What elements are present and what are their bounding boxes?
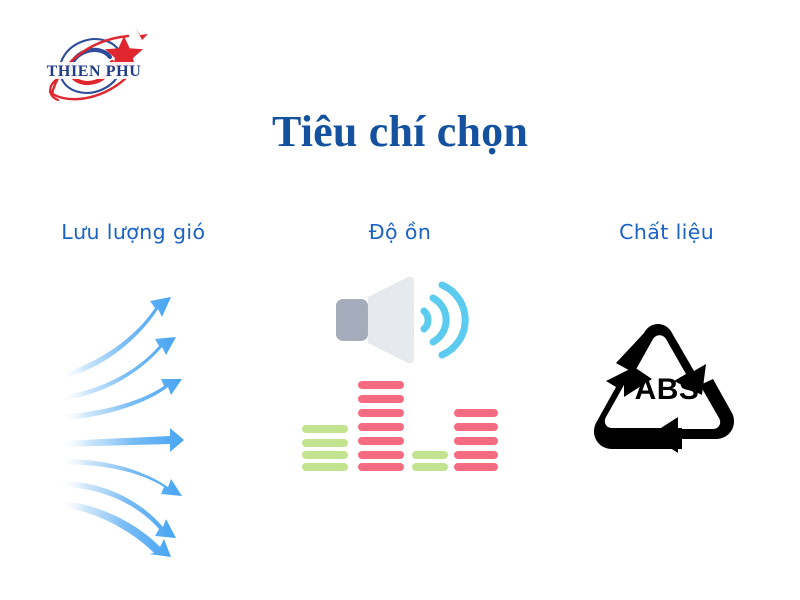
equalizer-column-2 xyxy=(358,381,404,471)
airflow-arrow-7 xyxy=(60,501,171,557)
criterion-label-airflow: Lưu lượng gió xyxy=(61,217,205,247)
equalizer-column-3 xyxy=(412,451,448,471)
criterion-label-noise: Độ ồn xyxy=(369,217,431,247)
slide-canvas: THIEN PHU Tiêu chí chọn Lưu lượng gió xyxy=(0,0,800,600)
speaker-body xyxy=(336,299,368,341)
thien-phu-logo: THIEN PHU xyxy=(36,22,158,108)
equalizer-icon xyxy=(300,379,500,471)
sound-wave-1 xyxy=(424,311,428,329)
speaker-icon xyxy=(330,271,470,367)
airflow-arrow-4 xyxy=(60,428,184,452)
criterion-label-material: Chất liệu xyxy=(619,217,714,247)
equalizer-column-4 xyxy=(454,409,498,471)
criterion-noise: Độ ồn xyxy=(267,205,534,565)
airflow-arrows-icon xyxy=(58,271,208,557)
airflow-arrow-5 xyxy=(60,459,182,496)
equalizer-column-1 xyxy=(302,425,348,471)
criterion-airflow: Lưu lượng gió xyxy=(0,205,267,565)
criteria-row: Lưu lượng gió xyxy=(0,205,800,565)
page-title: Tiêu chí chọn xyxy=(0,104,800,160)
abs-recycling-icon: ABS xyxy=(582,271,752,477)
airflow-arrow-1 xyxy=(60,297,171,379)
speaker-cone xyxy=(368,277,414,364)
material-code-label: ABS xyxy=(634,373,699,406)
criterion-material: Chất liệu ABS xyxy=(533,205,800,565)
logo-wordmark: THIEN PHU xyxy=(47,63,142,80)
speaker-equalizer-icon xyxy=(300,271,500,471)
airflow-arrow-3 xyxy=(60,379,182,421)
sound-wave-2 xyxy=(433,298,446,342)
noise-stack xyxy=(300,271,500,471)
